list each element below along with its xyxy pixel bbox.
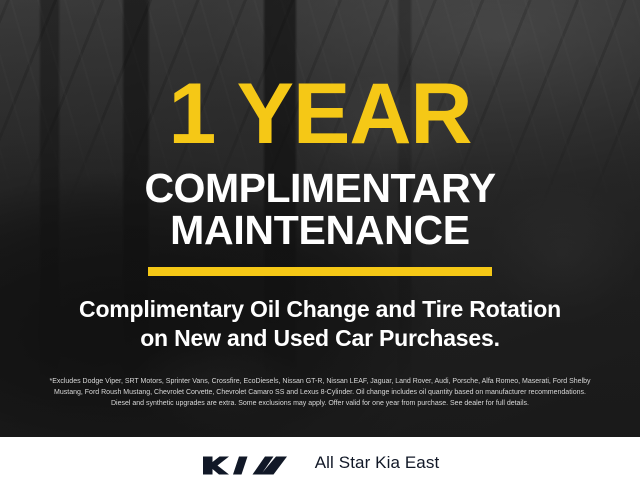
disclaimer-line-3: Diesel and synthetic upgrades are extra.… <box>16 399 624 410</box>
disclaimer-text: *Excludes Dodge Viper, SRT Motors, Sprin… <box>16 377 624 409</box>
subheadline-line-2: MAINTENANCE <box>144 210 495 252</box>
yellow-divider-rule <box>148 267 492 276</box>
promotional-banner: 1 YEAR COMPLIMENTARY MAINTENANCE Complim… <box>0 0 640 488</box>
offer-description: Complimentary Oil Change and Tire Rotati… <box>79 295 561 354</box>
disclaimer-line-2: Mustang, Ford Roush Mustang, Chevrolet C… <box>16 388 624 399</box>
offer-description-line-2: on New and Used Car Purchases. <box>79 324 561 353</box>
subheadline-line-1: COMPLIMENTARY <box>144 165 495 211</box>
dealer-footer: All Star Kia East <box>0 437 640 488</box>
offer-description-line-1: Complimentary Oil Change and Tire Rotati… <box>79 295 561 324</box>
subheadline: COMPLIMENTARY MAINTENANCE <box>144 168 495 252</box>
headline-offer-duration: 1 YEAR <box>168 78 471 152</box>
kia-logo <box>201 451 289 475</box>
dealer-name: All Star Kia East <box>315 453 440 473</box>
disclaimer-line-1: *Excludes Dodge Viper, SRT Motors, Sprin… <box>16 377 624 388</box>
banner-content: 1 YEAR COMPLIMENTARY MAINTENANCE Complim… <box>0 0 640 437</box>
